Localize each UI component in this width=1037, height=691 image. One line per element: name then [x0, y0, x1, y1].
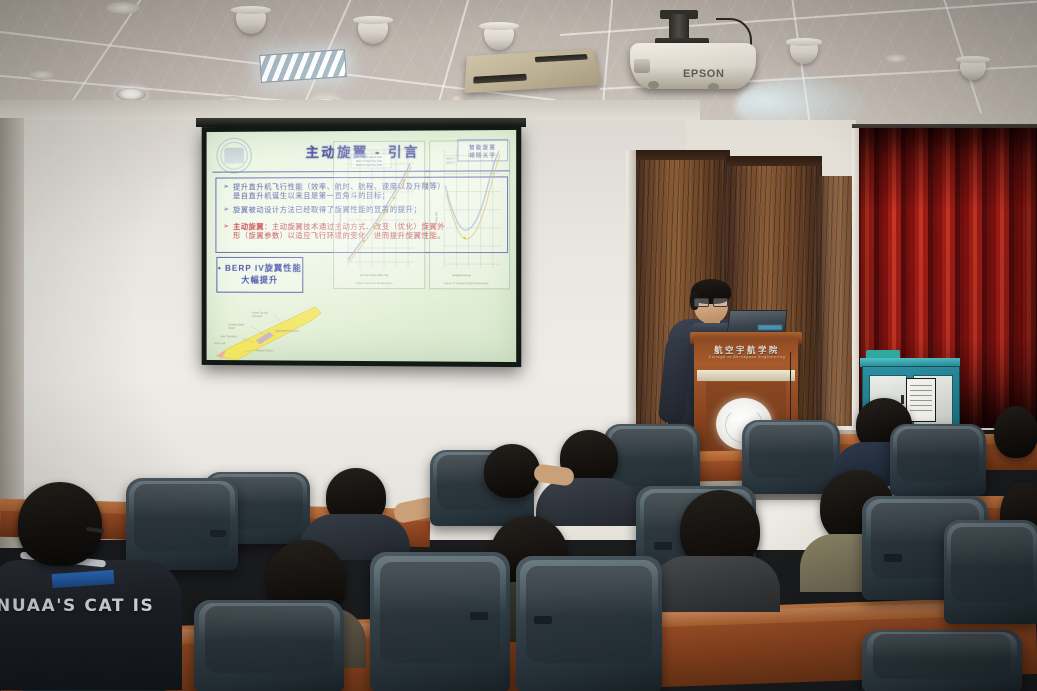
blade-label: Root Cuff [214, 341, 225, 345]
bullet-marker: ➢ [223, 222, 229, 241]
downlight-icon [106, 2, 140, 14]
blade-label: New Transition [220, 334, 237, 338]
projector-foot-icon [648, 81, 659, 89]
seat-tab [210, 530, 226, 537]
tshirt-text: NUAA'S CAT IS [0, 596, 176, 616]
chart2-svg: BERP IV BERP III Airspeed knots Figure 1… [430, 141, 509, 288]
seat[interactable] [742, 420, 840, 494]
downlight-icon [884, 54, 908, 63]
ac-vent [535, 54, 588, 62]
callout-bullet: • [218, 263, 222, 273]
blade-label: Inboard Section [256, 348, 274, 352]
seat-rim [129, 481, 234, 520]
seat[interactable] [516, 556, 662, 691]
notice-text-line [910, 395, 932, 396]
podium-trim-band [697, 370, 795, 381]
bullet-marker: ➢ [223, 182, 229, 201]
downlight-icon [28, 70, 56, 80]
seat-rim [607, 426, 697, 459]
blade-label: Notch [228, 326, 235, 330]
slide-surface: 主动旋翼 - 引言 智能旋翼 翱翔天宇 ➢ 提升直升机飞行性能（效率、航时、航程… [207, 130, 517, 362]
audience-shoulders [536, 478, 640, 526]
seat-rim [893, 426, 983, 456]
rotor-blade-diagram: Swept Tip with Anhedral Leading Edge Not… [212, 301, 323, 363]
seat[interactable] [890, 424, 986, 496]
chart2-legend: BERP III [446, 163, 455, 165]
seat-tab [534, 616, 552, 624]
audience-shoulders [652, 556, 780, 612]
university-seal-icon [216, 138, 251, 174]
audience-head [994, 406, 1037, 458]
seat[interactable] [862, 630, 1022, 691]
lecture-hall-screenshot: EPSON 主动旋翼 - 引言 智能旋翼 翱翔天宇 ➢ [0, 0, 1037, 691]
chart1-legend: BERP III Flight Test Data [356, 164, 383, 167]
bullet-marker: ➢ [223, 205, 229, 214]
glasses-lens [713, 298, 728, 307]
chart1-legend: BERP IV Predicted Data [356, 156, 383, 159]
seat-rim [947, 523, 1037, 567]
chart2-xlabel: Airspeed knots [452, 273, 471, 277]
notice-text-line [910, 410, 932, 411]
ac-vent [473, 74, 527, 84]
chart2-legend: BERP IV [446, 159, 456, 161]
projection-screen-frame: 主动旋翼 - 引言 智能旋翼 翱翔天宇 ➢ 提升直升机飞行性能（效率、航时、航程… [202, 125, 522, 367]
seat[interactable] [944, 520, 1037, 624]
callout-line-1: • BERP IV旋翼性能 [217, 262, 302, 274]
notice-text-line [910, 385, 932, 386]
seat-rim [199, 603, 340, 642]
seat[interactable] [194, 600, 344, 691]
notice-text-line [910, 390, 932, 391]
notice-text-line [910, 405, 932, 406]
projector [630, 43, 756, 89]
seat[interactable] [126, 478, 238, 570]
chart2-ylabel: Power kW [434, 211, 438, 223]
fluorescent-light-panel [259, 49, 347, 83]
seat-rim [867, 632, 1017, 658]
curtain-wall-edge [852, 128, 859, 428]
callout-line-2: 大幅提升 [217, 274, 302, 286]
chart1-svg: BERP IV Predicted Data Basic IV Flight T… [334, 142, 424, 289]
podium-sign-en: College of Aerospace Engineering [700, 355, 794, 359]
bullet-keyword: 主动旋翼 [233, 222, 264, 231]
audience-head [18, 482, 102, 566]
glasses-lens [694, 298, 709, 307]
seat-rim [745, 422, 837, 453]
chart2-title: Figure 17 Forward Flight Performance [444, 281, 489, 285]
glasses-icon [694, 298, 728, 305]
projector-lens-icon [634, 59, 650, 73]
chart1-title: Figure 16 Hover Performance [356, 281, 393, 285]
projector-foot-icon [708, 83, 719, 91]
chart1-xlabel: Aircraft Mass Ratio Mg [360, 273, 389, 277]
blade-label: New Aerofoil Section [276, 329, 300, 333]
laptop-screen-glow [758, 325, 782, 330]
left-wall-edge [0, 118, 24, 548]
cabinet-handle-icon[interactable] [901, 395, 904, 404]
seat-tab [654, 542, 672, 550]
projector-brand-label: EPSON [683, 68, 725, 80]
chart1-ylabel: Power Required kW [338, 208, 342, 232]
forward-flight-power-chart: BERP IV BERP III Airspeed knots Figure 1… [429, 140, 510, 289]
audience-head [484, 444, 540, 498]
seat[interactable] [370, 552, 510, 691]
seat-rim [520, 560, 657, 617]
column-highlight [626, 150, 636, 460]
seat-tab [470, 612, 488, 620]
seat-rim [374, 556, 506, 615]
callout-text-1: BERP IV旋翼性能 [225, 263, 302, 273]
blade-label: Anhedral [252, 314, 263, 318]
blade-svg: Swept Tip with Anhedral Leading Edge Not… [212, 301, 323, 363]
slide-callout-box: • BERP IV旋翼性能 大幅提升 [216, 257, 303, 293]
seat-tab [884, 554, 902, 562]
hover-performance-chart: BERP IV Predicted Data Basic IV Flight T… [333, 141, 425, 290]
chart1-legend: Basic IV Flight Test Data [356, 160, 383, 163]
notice-text-line [910, 400, 932, 401]
